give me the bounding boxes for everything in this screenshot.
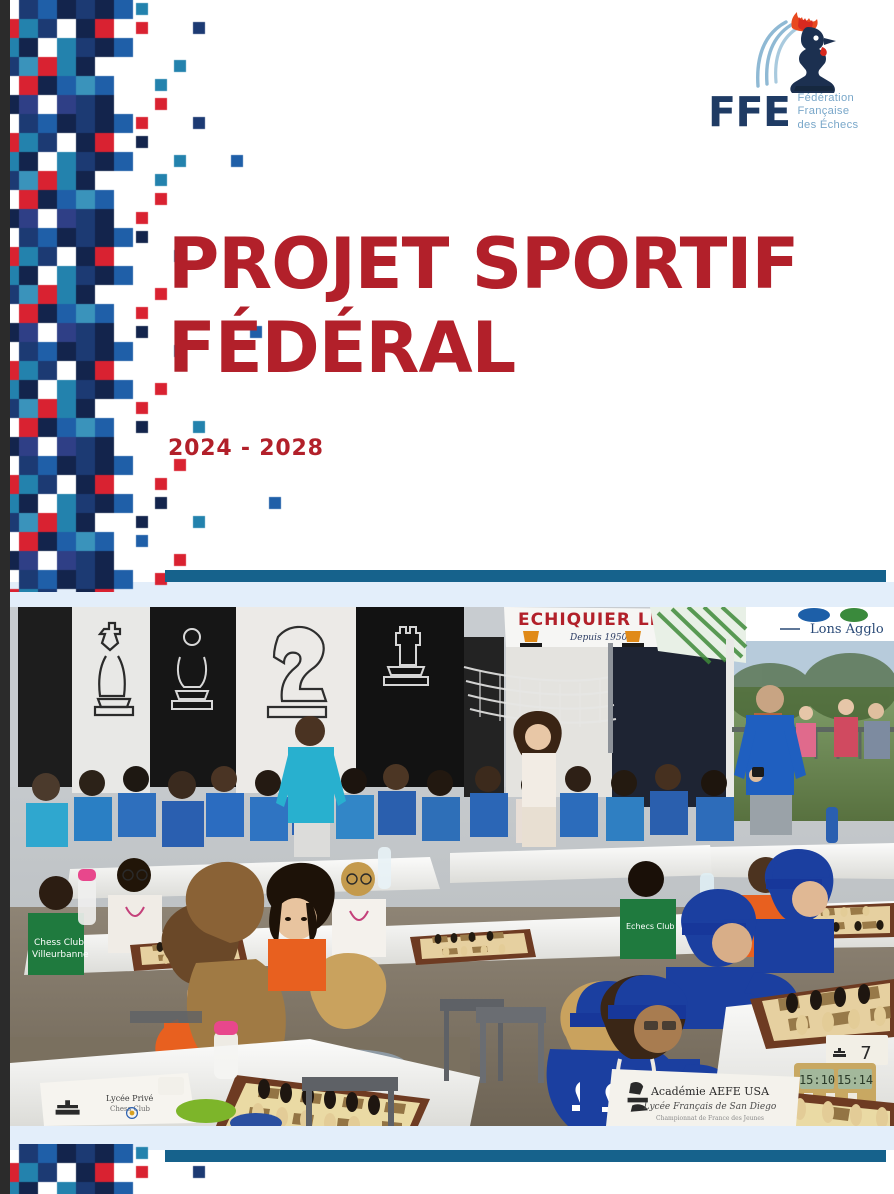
svg-text:15:14: 15:14 (837, 1073, 873, 1087)
ffe-name-line-2: Française (798, 105, 859, 118)
svg-text:Depuis 1950: Depuis 1950 (569, 633, 628, 643)
ffe-rooster-chess-pawn-logo (752, 12, 844, 94)
divider-rule-top (165, 570, 886, 582)
page-title-line-1: PROJET SPORTIF (168, 222, 868, 306)
divider-rule-bottom (165, 1150, 886, 1162)
ffe-full-name: Fédération Française des Échecs (798, 92, 859, 132)
svg-text:Académie AEFE USA: Académie AEFE USA (650, 1085, 770, 1098)
svg-text:Lycée Français de San Diego: Lycée Français de San Diego (643, 1101, 777, 1112)
svg-text:Echecs Club: Echecs Club (626, 922, 675, 931)
ffe-logo: FFE Fédération Française des Échecs (708, 12, 880, 136)
ffe-name-line-3: des Échecs (798, 119, 859, 132)
left-edge-strip (0, 0, 10, 1194)
svg-text:Championnat de France des Jeun: Championnat de France des Jeunes (656, 1115, 764, 1122)
svg-text:Lons Agglo: Lons Agglo (810, 622, 884, 637)
ffe-acronym: FFE (708, 92, 791, 133)
svg-text:Villeurbanne: Villeurbanne (32, 950, 89, 960)
svg-text:Chess Club: Chess Club (34, 938, 84, 948)
svg-text:15:10: 15:10 (799, 1073, 835, 1087)
ffe-logo-text-row: FFE Fédération Française des Échecs (708, 90, 880, 134)
page-title-line-2: FÉDÉRAL (168, 306, 868, 390)
svg-text:7: 7 (860, 1043, 871, 1064)
cover-photo-chess-tournament: ECHIQUIER LEDONIEN Depuis 1950 Lons Aggl… (10, 607, 894, 1126)
svg-text:Lycée Privé: Lycée Privé (106, 1094, 153, 1103)
cover-page: FFE Fédération Française des Échecs PROJ… (0, 0, 894, 1194)
ffe-name-line-1: Fédération (798, 92, 859, 105)
cover-title-block: PROJET SPORTIF FÉDÉRAL 2024 - 2028 (168, 222, 868, 461)
page-subtitle-period: 2024 - 2028 (168, 436, 868, 461)
